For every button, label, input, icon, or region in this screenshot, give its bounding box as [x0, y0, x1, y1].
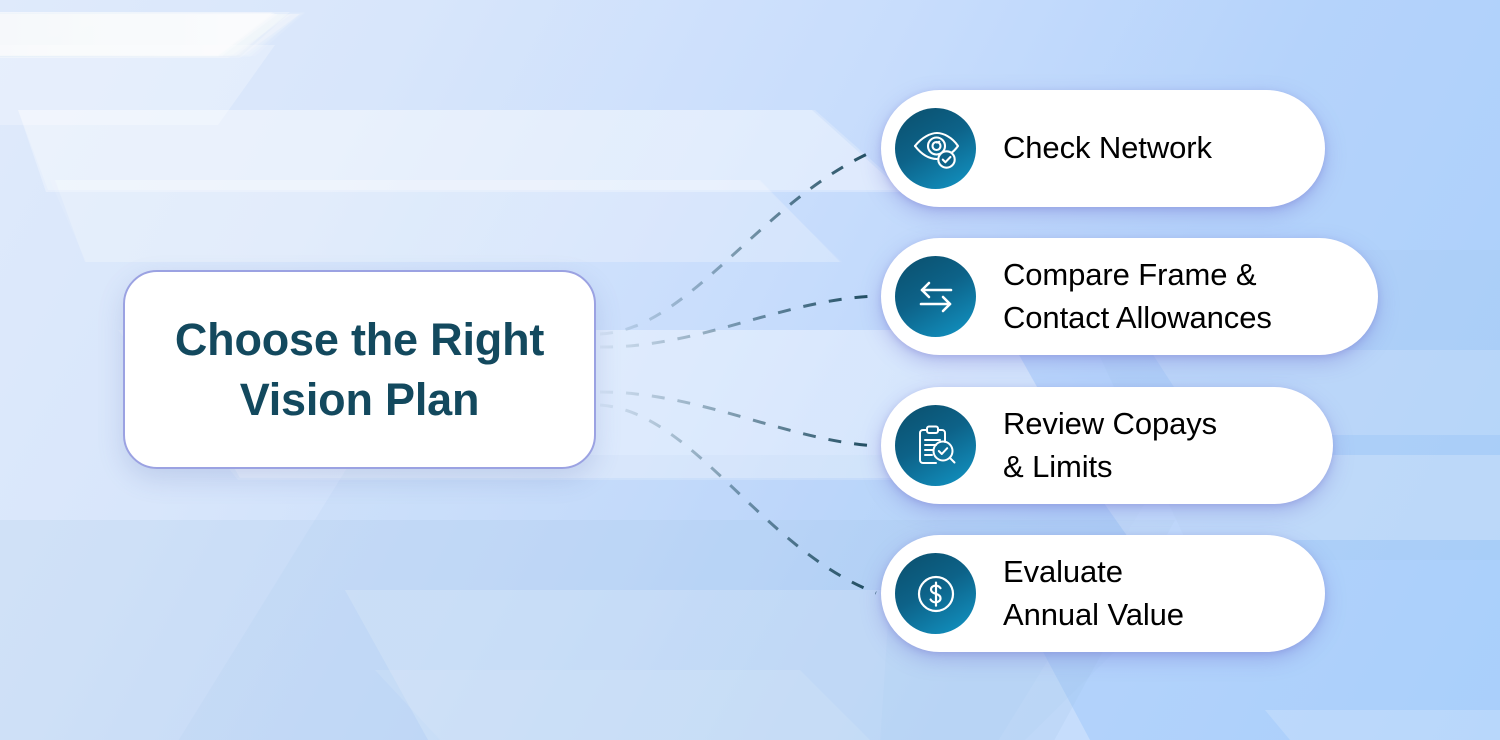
list-item-review-copays[interactable]: Review Copays & Limits: [881, 387, 1333, 504]
eye-check-icon: [895, 108, 976, 189]
list-item-label: Review Copays & Limits: [1003, 403, 1217, 487]
page-title: Choose the Right Vision Plan: [157, 310, 562, 430]
connector-line-4: [600, 405, 876, 593]
compare-arrows-icon: [895, 256, 976, 337]
list-item-label: Compare Frame & Contact Allowances: [1003, 254, 1272, 338]
connector-line-2: [600, 296, 876, 347]
list-item-label: Evaluate Annual Value: [1003, 551, 1184, 635]
list-item-label: Check Network: [1003, 127, 1212, 169]
connector-line-1: [600, 150, 876, 334]
center-card[interactable]: Choose the Right Vision Plan: [123, 270, 596, 469]
clipboard-search-check-icon: [895, 405, 976, 486]
list-item-compare-allowances[interactable]: Compare Frame & Contact Allowances: [881, 238, 1378, 355]
infographic-canvas: Choose the Right Vision Plan Check Netwo…: [0, 0, 1500, 740]
list-item-check-network[interactable]: Check Network: [881, 90, 1325, 207]
connector-line-3: [600, 392, 876, 446]
dollar-circle-icon: [895, 553, 976, 634]
list-item-evaluate-annual-value[interactable]: Evaluate Annual Value: [881, 535, 1325, 652]
